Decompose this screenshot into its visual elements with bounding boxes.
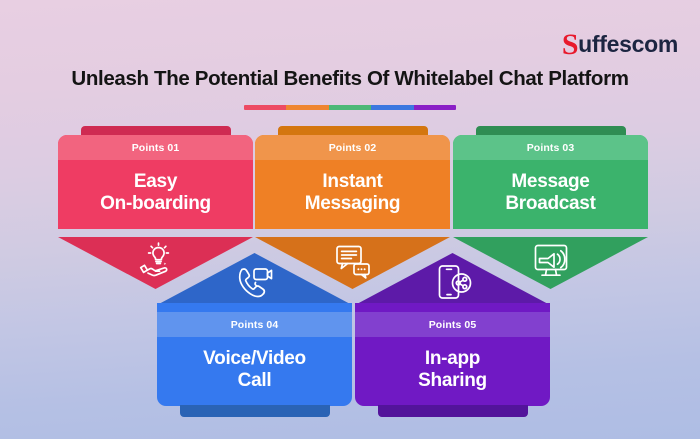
- divider-segment-5: [414, 105, 456, 110]
- phone-share-icon: [433, 263, 473, 303]
- points-badge: Points 04: [157, 312, 352, 337]
- card-body: Points 02InstantMessaging: [255, 135, 450, 229]
- suffescom-logo: S uffescom: [562, 28, 678, 58]
- card-title: In-appSharing: [355, 337, 550, 406]
- card-title: Voice/VideoCall: [157, 337, 352, 406]
- card-body: Points 04Voice/VideoCall: [157, 303, 352, 406]
- card-title: InstantMessaging: [255, 160, 450, 229]
- points-badge: Points 05: [355, 312, 550, 337]
- page-title: Unleash The Potential Benefits Of Whitel…: [0, 67, 700, 91]
- phone-video-call-icon: [235, 263, 275, 303]
- card-body: Points 03MessageBroadcast: [453, 135, 648, 229]
- card-title-line-2: Messaging: [261, 193, 444, 215]
- card-title-line-1: Easy: [64, 171, 247, 193]
- card-title-line-1: Instant: [261, 171, 444, 193]
- card-title: EasyOn-boarding: [58, 160, 253, 229]
- card-body: Points 01EasyOn-boarding: [58, 135, 253, 229]
- card-title-line-2: On-boarding: [64, 193, 247, 215]
- points-badge: Points 02: [255, 135, 450, 160]
- card-title-line-1: In-app: [361, 348, 544, 370]
- card-title: MessageBroadcast: [453, 160, 648, 229]
- broadcast-monitor-icon: [531, 240, 571, 280]
- logo-initial: S: [562, 30, 578, 60]
- divider-segment-2: [286, 105, 328, 110]
- points-badge: Points 03: [453, 135, 648, 160]
- chat-bubbles-icon: [333, 240, 373, 280]
- points-badge: Points 01: [58, 135, 253, 160]
- divider-segment-3: [329, 105, 371, 110]
- card-bottom-tab: [180, 405, 330, 417]
- card-title-line-2: Broadcast: [459, 193, 642, 215]
- divider-segment-4: [371, 105, 413, 110]
- card-bottom-tab: [378, 405, 528, 417]
- card-title-line-2: Sharing: [361, 370, 544, 392]
- logo-wordmark: uffescom: [578, 33, 678, 56]
- color-divider: [244, 105, 456, 110]
- card-title-line-1: Message: [459, 171, 642, 193]
- card-title-line-1: Voice/Video: [163, 348, 346, 370]
- card-body: Points 05In-appSharing: [355, 303, 550, 406]
- hand-lightbulb-icon: [136, 240, 176, 280]
- divider-segment-1: [244, 105, 286, 110]
- card-title-line-2: Call: [163, 370, 346, 392]
